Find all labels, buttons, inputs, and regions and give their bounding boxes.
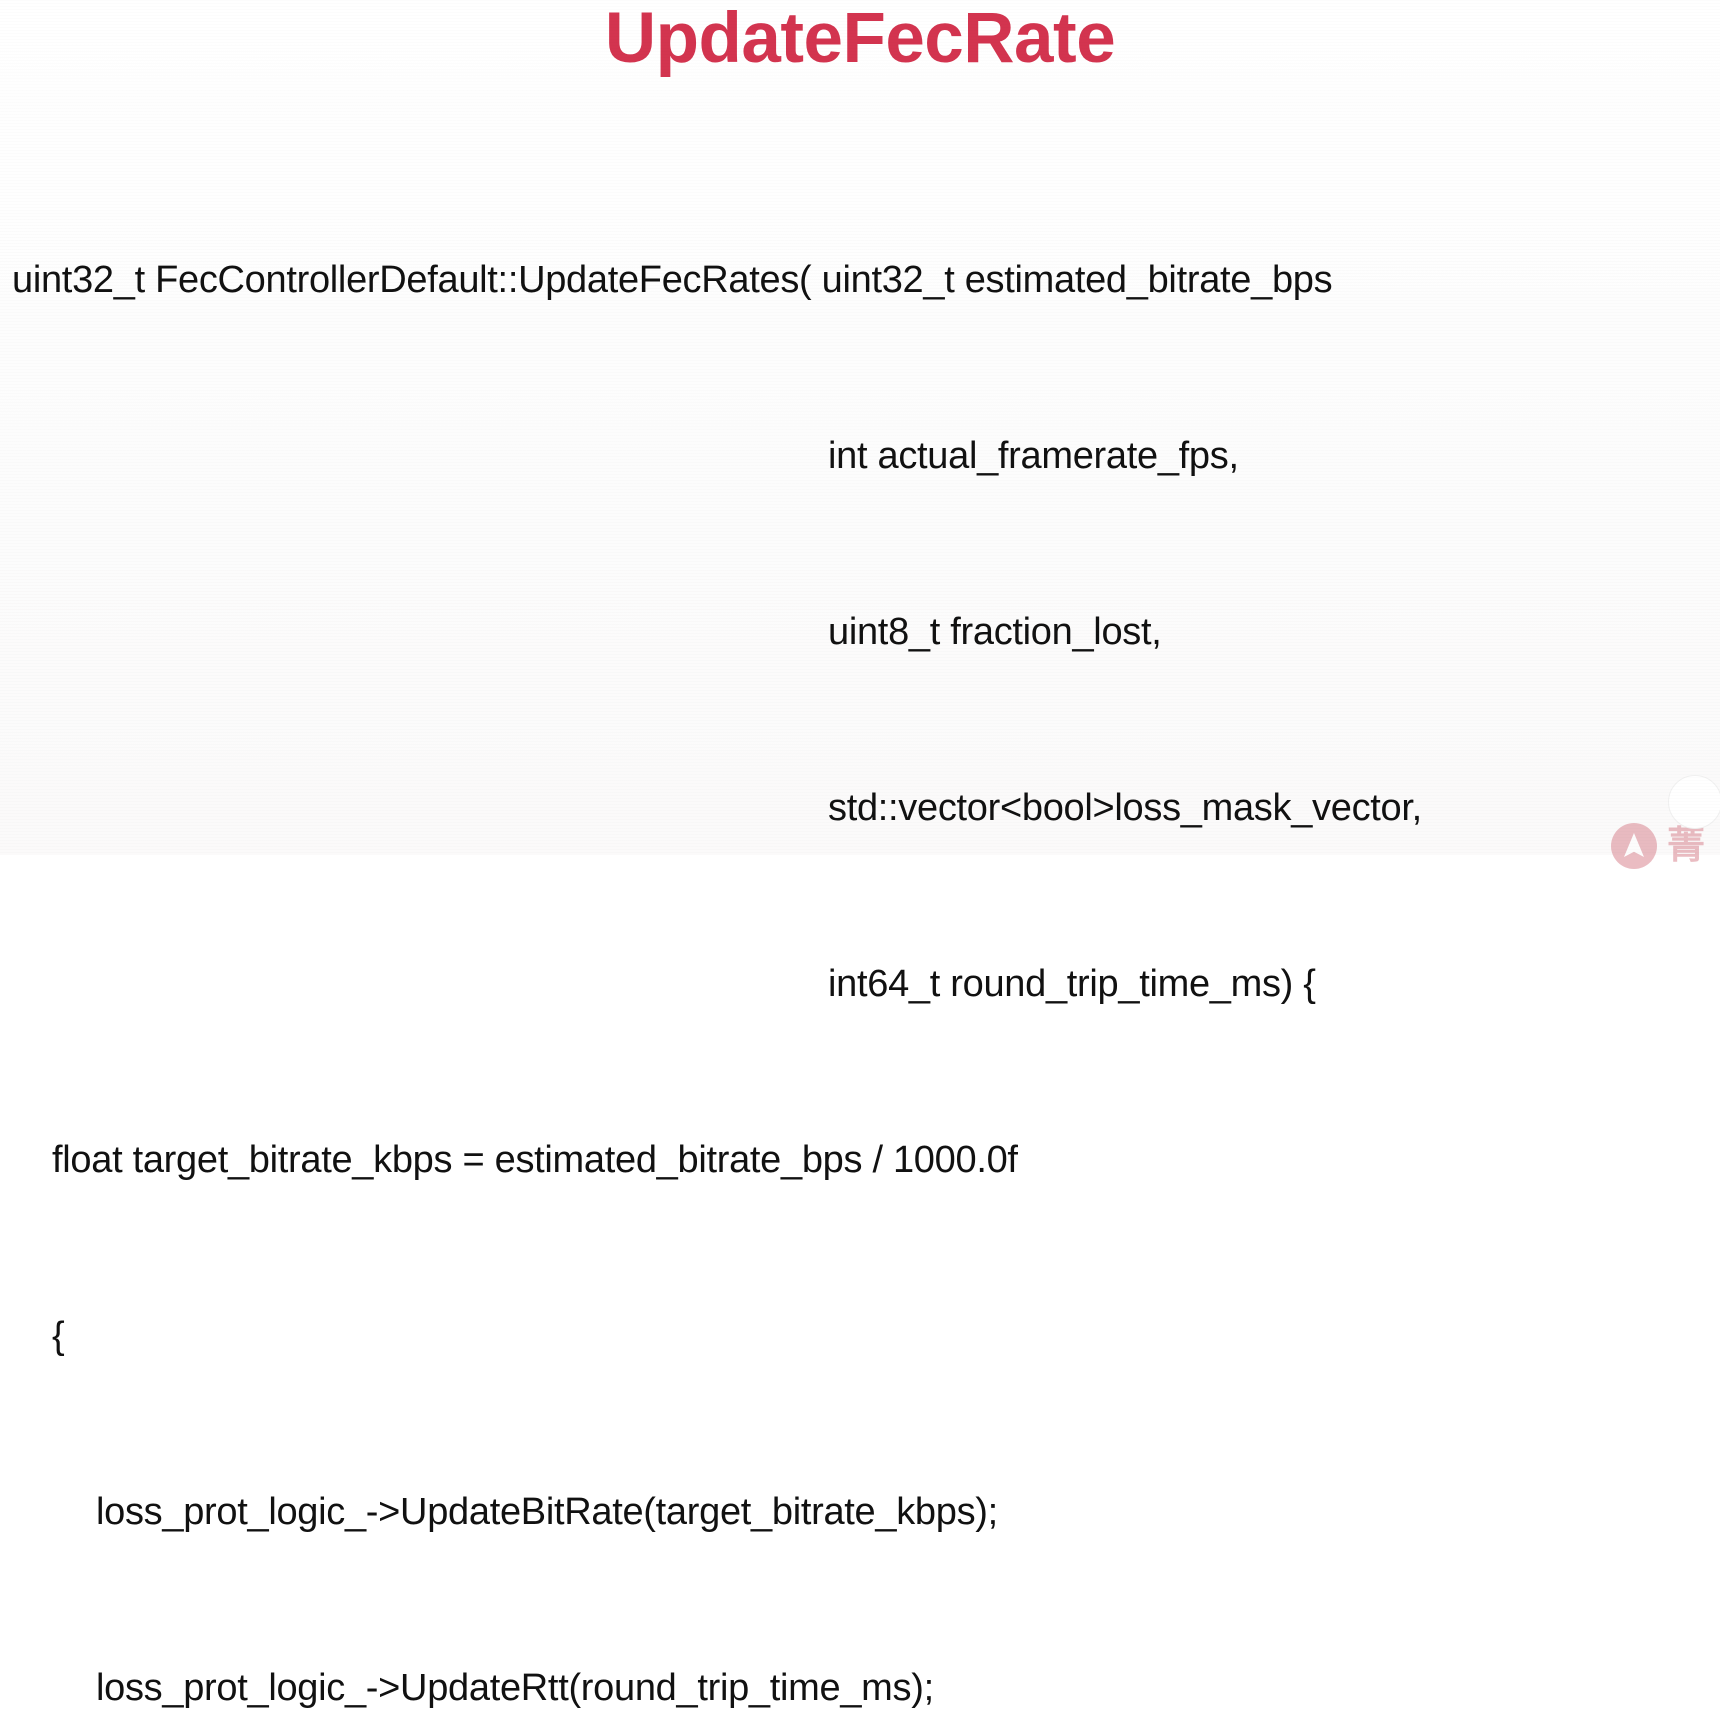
code-block: uint32_t FecControllerDefault::UpdateFec… <box>0 126 1720 1710</box>
code-line-param-3: std::vector<bool>loss_mask_vector, <box>0 786 1720 830</box>
slide-canvas: UpdateFecRate uint32_t FecControllerDefa… <box>0 0 1720 855</box>
page-title: UpdateFecRate <box>0 0 1720 83</box>
code-line-update-rtt: loss_prot_logic_->UpdateRtt(round_trip_t… <box>0 1666 1720 1710</box>
watermark-label: 菁 <box>1667 827 1706 865</box>
code-line-param-2: uint8_t fraction_lost, <box>0 610 1720 654</box>
watermark-badge-icon <box>1668 775 1720 829</box>
code-line-param-4: int64_t round_trip_time_ms) { <box>0 962 1720 1006</box>
code-line-update-bitrate: loss_prot_logic_->UpdateBitRate(target_b… <box>0 1490 1720 1534</box>
code-line-signature: uint32_t FecControllerDefault::UpdateFec… <box>0 258 1720 302</box>
watermark: 菁 <box>1611 823 1706 869</box>
watermark-logo-icon <box>1611 823 1657 869</box>
code-line-open-brace: { <box>0 1314 1720 1358</box>
code-line-param-1: int actual_framerate_fps, <box>0 434 1720 478</box>
code-line-target-bitrate: float target_bitrate_kbps = estimated_bi… <box>0 1138 1720 1182</box>
